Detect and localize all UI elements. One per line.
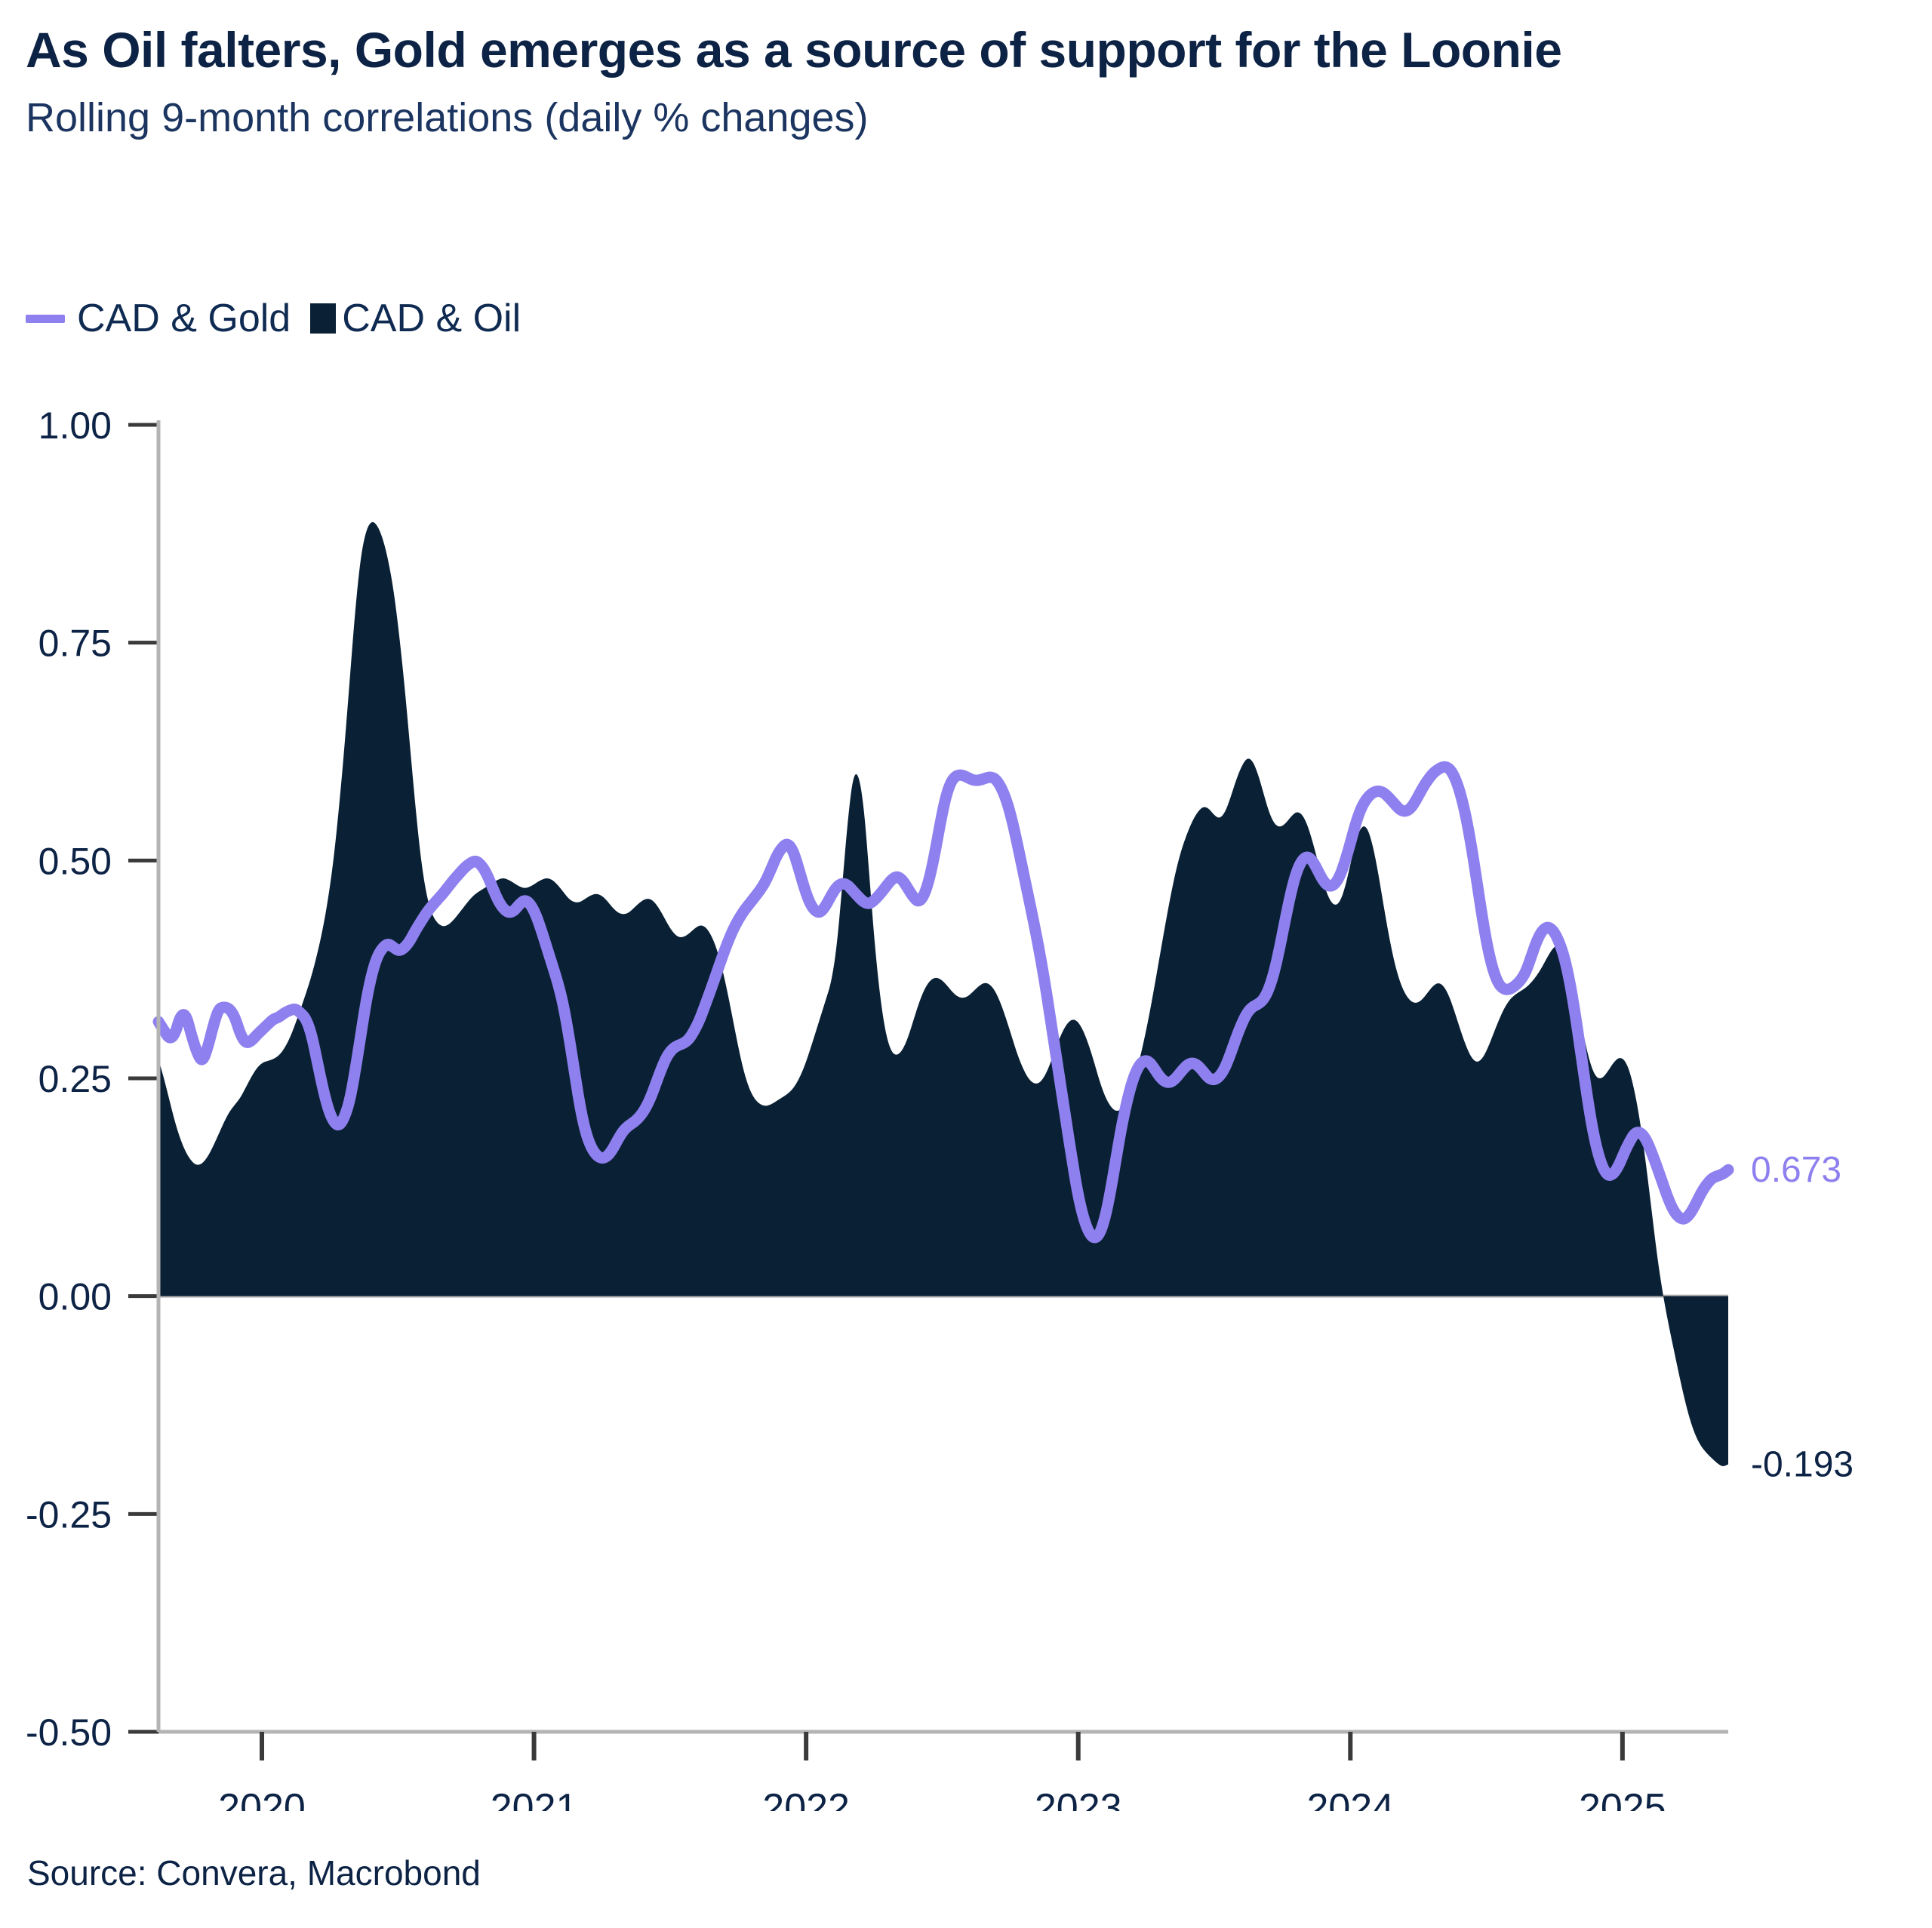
chart-subtitle: Rolling 9-month correlations (daily % ch… bbox=[26, 94, 1837, 143]
y-tick-label-6: -0.50 bbox=[26, 1711, 112, 1754]
chart-page: As Oil falters, Gold emerges as a source… bbox=[0, 0, 1932, 1928]
x-tick-label-2020: 2020 bbox=[218, 1786, 306, 1811]
chart-header: As Oil falters, Gold emerges as a source… bbox=[26, 21, 1837, 143]
series-end-labels: 0.673-0.193 bbox=[1751, 1150, 1854, 1484]
series-cad-oil-area bbox=[158, 522, 1728, 1466]
y-tick-label-1: 0.75 bbox=[38, 623, 112, 665]
x-tick-label-2022: 2022 bbox=[762, 1786, 850, 1811]
y-tick-label-4: 0.00 bbox=[38, 1276, 112, 1318]
chart-legend: CAD & Gold CAD & Oil bbox=[26, 299, 521, 338]
cad-oil-end-value: -0.193 bbox=[1751, 1445, 1854, 1485]
x-tick-label-2021: 2021 bbox=[491, 1786, 578, 1811]
x-axis-labels: 202020212022202320242025 bbox=[218, 1786, 1666, 1811]
legend-line-swatch-icon bbox=[26, 315, 65, 323]
legend-square-swatch-icon bbox=[310, 303, 336, 334]
y-tick-label-3: 0.25 bbox=[38, 1058, 112, 1100]
x-tick-label-2024: 2024 bbox=[1306, 1786, 1394, 1811]
cad-gold-end-value: 0.673 bbox=[1751, 1150, 1841, 1190]
cad-oil-area-path bbox=[158, 522, 1728, 1466]
chart-svg: 1.000.750.500.250.00-0.25-0.50 202020212… bbox=[0, 377, 1932, 1811]
legend-label-cad-gold: CAD & Gold bbox=[77, 299, 291, 338]
y-tick-marks bbox=[128, 425, 158, 1732]
legend-item-cad-oil[interactable]: CAD & Oil bbox=[310, 299, 521, 338]
chart-plot-area: 1.000.750.500.250.00-0.25-0.50 202020212… bbox=[0, 377, 1932, 1811]
y-tick-label-2: 0.50 bbox=[38, 840, 112, 882]
y-tick-label-5: -0.25 bbox=[26, 1493, 112, 1536]
y-tick-label-0: 1.00 bbox=[38, 404, 112, 447]
x-tick-label-2023: 2023 bbox=[1035, 1786, 1122, 1811]
legend-label-cad-oil: CAD & Oil bbox=[342, 299, 521, 338]
page-title: As Oil falters, Gold emerges as a source… bbox=[26, 21, 1686, 80]
y-axis-labels: 1.000.750.500.250.00-0.25-0.50 bbox=[26, 404, 112, 1754]
x-tick-label-2025: 2025 bbox=[1579, 1786, 1666, 1811]
source-note: Source: Convera, Macrobond bbox=[27, 1853, 481, 1893]
x-tick-marks bbox=[262, 1732, 1623, 1760]
legend-item-cad-gold[interactable]: CAD & Gold bbox=[26, 299, 291, 338]
